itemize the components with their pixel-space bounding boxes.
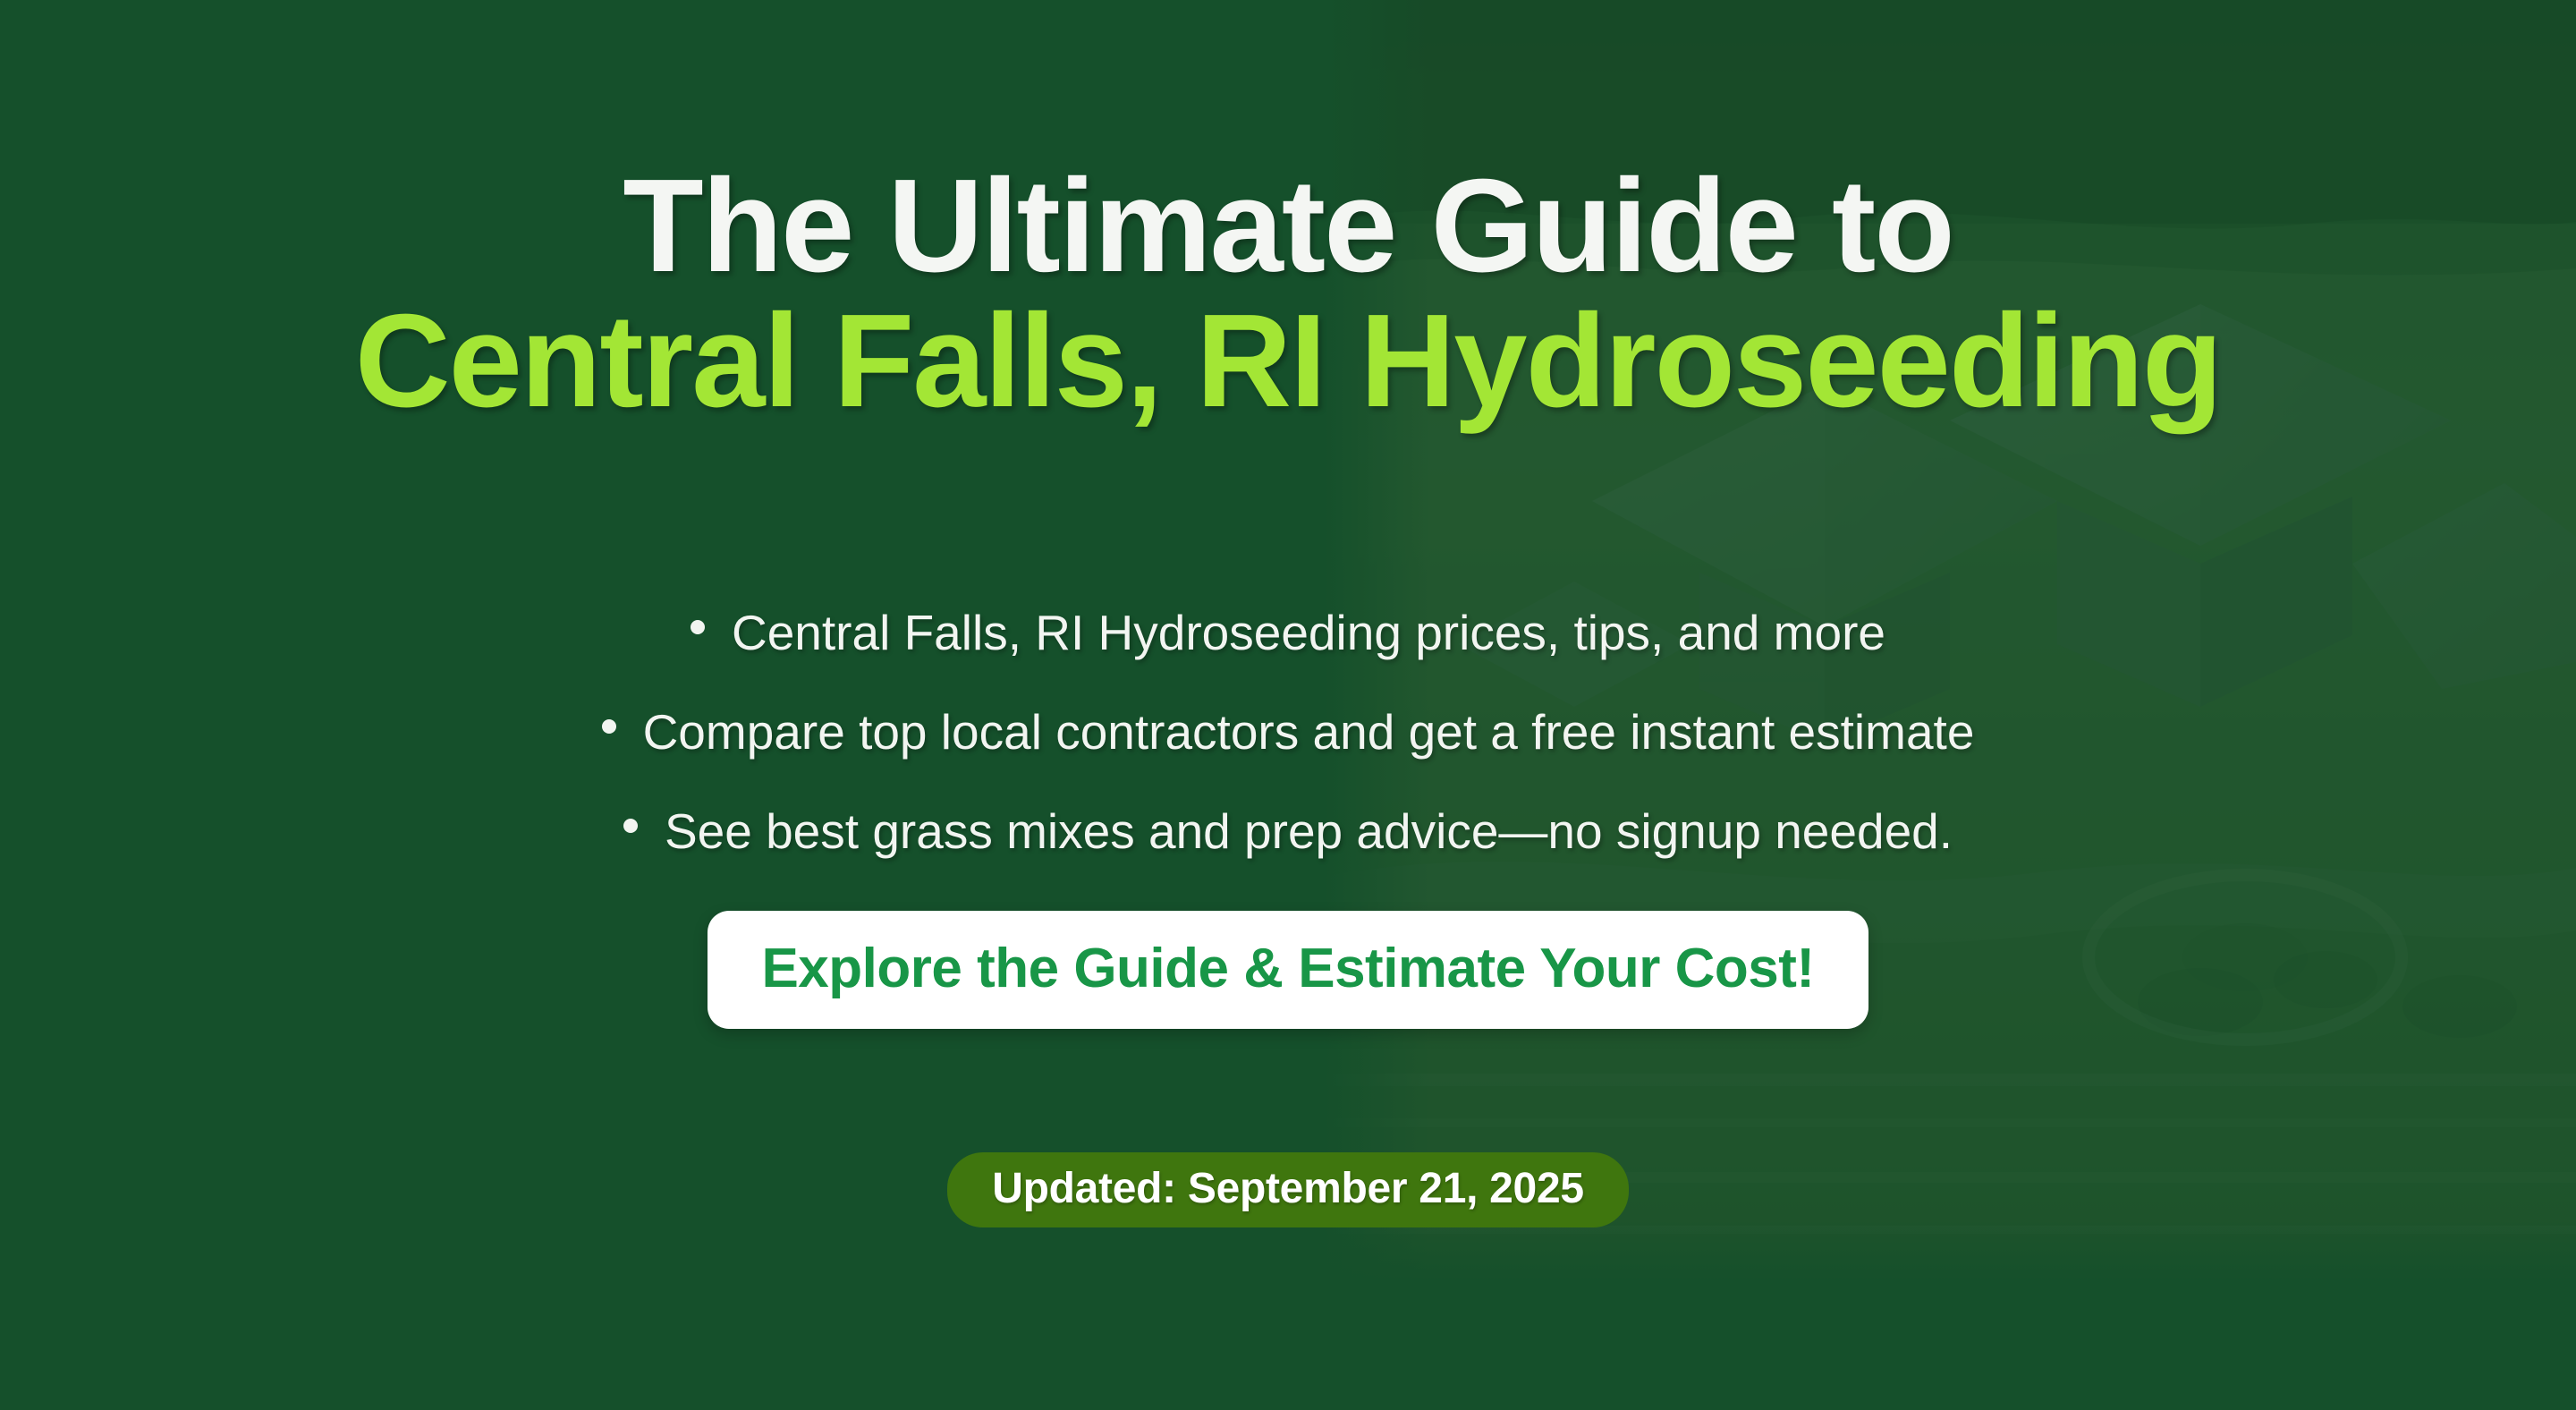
page-title: The Ultimate Guide to Central Falls, RI … — [0, 159, 2576, 429]
explore-guide-cta-button[interactable]: Explore the Guide & Estimate Your Cost! — [708, 911, 1868, 1029]
cta-container: Explore the Guide & Estimate Your Cost! — [0, 911, 2576, 1029]
hero-banner: The Ultimate Guide to Central Falls, RI … — [0, 0, 2576, 1410]
list-item-label: Central Falls, RI Hydroseeding prices, t… — [732, 605, 1885, 660]
list-item: Compare top local contractors and get a … — [0, 681, 2576, 780]
bullet-dot-icon — [623, 819, 638, 833]
bullet-dot-icon — [691, 620, 705, 634]
hero-content: The Ultimate Guide to Central Falls, RI … — [0, 0, 2576, 1410]
list-item-label: Compare top local contractors and get a … — [643, 704, 1975, 760]
headline-line-primary: The Ultimate Guide to — [0, 159, 2576, 294]
headline-line-accent: Central Falls, RI Hydroseeding — [0, 294, 2576, 429]
bullet-dot-icon — [602, 719, 616, 734]
updated-container: Updated: September 21, 2025 — [0, 1152, 2576, 1227]
list-item: See best grass mixes and prep advice—no … — [0, 780, 2576, 879]
benefit-list: Central Falls, RI Hydroseeding prices, t… — [0, 582, 2576, 879]
last-updated-badge: Updated: September 21, 2025 — [947, 1152, 1629, 1227]
list-item-label: See best grass mixes and prep advice—no … — [665, 803, 1953, 859]
list-item: Central Falls, RI Hydroseeding prices, t… — [0, 582, 2576, 681]
